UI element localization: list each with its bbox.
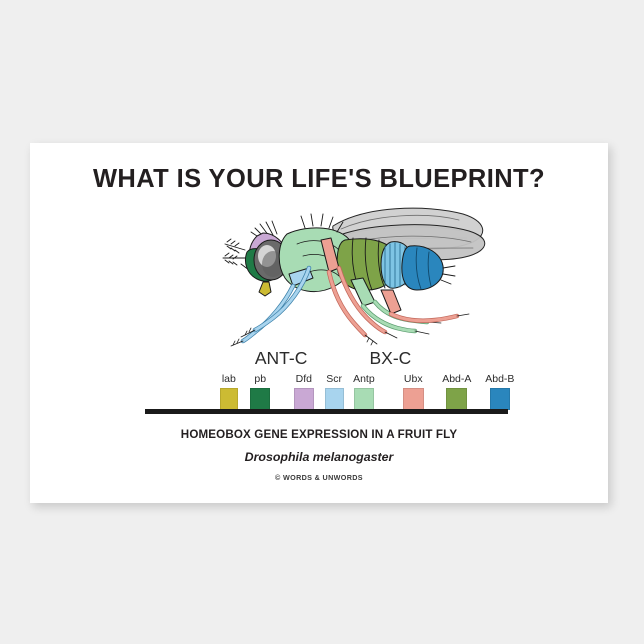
gene-color-box	[490, 388, 510, 410]
rear-leg-salmon	[381, 290, 469, 321]
gene-color-box	[446, 388, 467, 410]
gene-cluster-label: BX-C	[369, 348, 411, 369]
gene-color-box	[250, 388, 270, 410]
caption-species-name: Drosophila melanogaster	[30, 450, 608, 464]
gene-color-box	[354, 388, 374, 410]
gene-color-box	[220, 388, 238, 410]
gene-label: Abd-B	[485, 373, 514, 385]
caption-headline: HOMEOBOX GENE EXPRESSION IN A FRUIT FLY	[30, 428, 608, 441]
page-title: WHAT IS YOUR LIFE'S BLUEPRINT?	[30, 165, 608, 194]
gene-label: Antp	[353, 373, 375, 385]
gene-label: Scr	[326, 373, 342, 385]
sticker-artwork: WHAT IS YOUR LIFE'S BLUEPRINT?	[30, 143, 608, 503]
drosophila-fly-illustration	[205, 198, 505, 353]
chromosome-axis-bar	[145, 409, 508, 414]
gene-color-box	[325, 388, 344, 410]
gene-label: pb	[254, 373, 266, 385]
gene-color-box	[403, 388, 424, 410]
gene-color-box	[294, 388, 314, 410]
gene-cluster-label: ANT-C	[255, 348, 308, 369]
proboscis	[259, 282, 271, 296]
gene-label: Ubx	[404, 373, 423, 385]
gene-label: Dfd	[296, 373, 312, 385]
screenshot-canvas: WHAT IS YOUR LIFE'S BLUEPRINT?	[0, 0, 644, 644]
homeobox-gene-map: ANT-CBX-C labpbDfdScrAntpUbxAbd-AAbd-B	[30, 348, 608, 433]
gene-label: Abd-A	[442, 373, 471, 385]
gene-label: lab	[222, 373, 236, 385]
caption-block: HOMEOBOX GENE EXPRESSION IN A FRUIT FLY …	[30, 428, 608, 482]
caption-copyright: © WORDS & UNWORDS	[30, 473, 608, 482]
